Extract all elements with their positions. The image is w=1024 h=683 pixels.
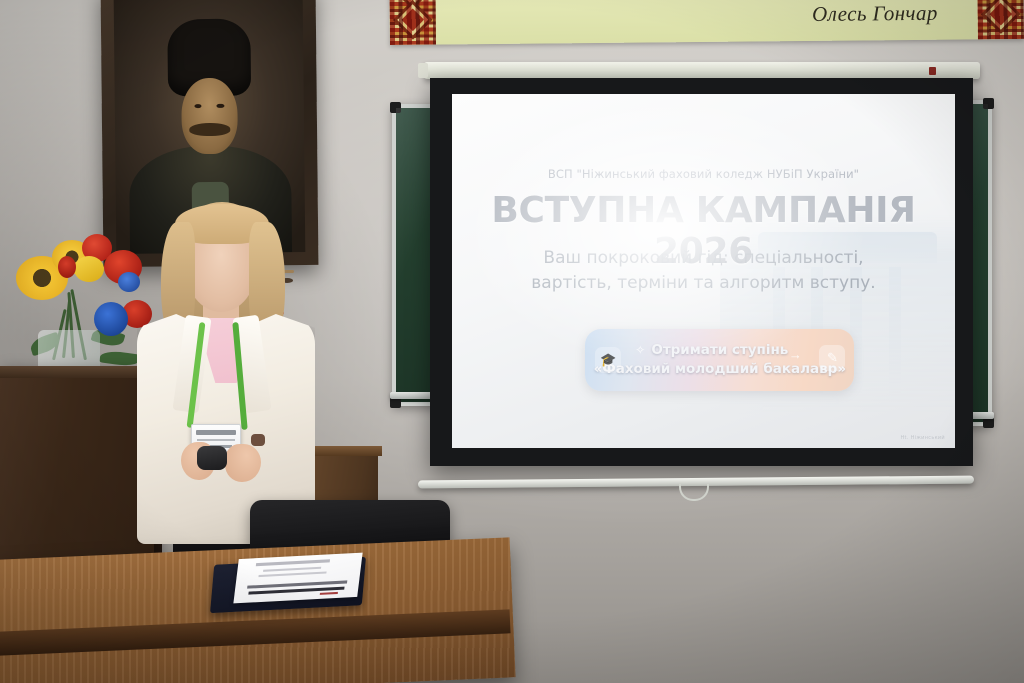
slide-subtitle: Ваш покроковий гід: спеціальності, варті…	[452, 246, 955, 295]
embroidery-ornament-right	[977, 0, 1024, 39]
slide-credit: Ht. Ніжинський	[901, 435, 946, 441]
slide-subtitle-line-1: Ваш покроковий гід: спеціальності,	[543, 248, 863, 268]
flower-blue	[94, 302, 128, 336]
presenter	[133, 196, 333, 526]
wrist-watch	[251, 434, 265, 446]
slide-cta-button[interactable]: 🎓 ✧ → ✎ Отримати ступінь «Фаховий молодш…	[585, 329, 854, 391]
presentation-photo-scene: від часів, коли Олесь Гончар	[0, 0, 1024, 683]
rose-bud	[58, 256, 76, 278]
projector-screen-surface: ВСП "Ніжинський фаховий коледж НУБіП Укр…	[452, 94, 955, 448]
embroidery-ornament-left	[389, 0, 436, 45]
arrow-right-icon: →	[782, 341, 808, 367]
slide-institution-name: ВСП "Ніжинський фаховий коледж НУБіП Укр…	[452, 167, 955, 181]
portrait-face	[181, 77, 238, 154]
banner-author: Олесь Гончар	[812, 1, 938, 27]
wall-banner: від часів, коли Олесь Гончар	[389, 0, 1024, 45]
cta-line-2: «Фаховий молодший бакалавр»	[594, 361, 846, 377]
slide-content: ВСП "Ніжинський фаховий коледж НУБіП Укр…	[452, 94, 955, 448]
document-page[interactable]	[233, 553, 362, 604]
sparkle-icon: ✧	[627, 337, 653, 363]
pen-icon: ✎	[819, 345, 845, 371]
cta-line-1: Отримати ступінь	[651, 342, 788, 358]
lectern	[0, 370, 154, 570]
screen-label	[929, 67, 936, 75]
banner-quote-line: від часів, коли	[459, 0, 560, 1]
presentation-clicker[interactable]	[197, 446, 227, 470]
graduation-cap-icon: 🎓	[595, 347, 621, 373]
slide-subtitle-line-2: вартість, терміни та алгоритм вступу.	[531, 273, 875, 293]
projector-screen-frame: ВСП "Ніжинський фаховий коледж НУБіП Укр…	[430, 78, 973, 466]
flower-yellow	[74, 256, 104, 282]
projector-screen-case	[424, 62, 980, 79]
